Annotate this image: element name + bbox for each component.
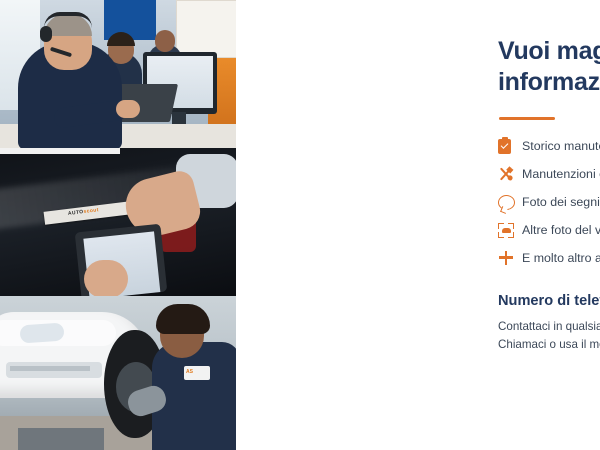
list-item: Storico manutentivo: [498, 132, 600, 160]
colleague-far-head: [155, 30, 175, 52]
feature-label: E molto altro ancora: [522, 251, 600, 265]
photo-mechanic-inspecting-wheel-on-lift: AS: [0, 296, 236, 450]
top-white-strip: [0, 148, 120, 154]
tools-icon: [498, 166, 522, 182]
contact-note: Contattaci in qualsiasi momento per ulte…: [498, 318, 600, 354]
uniform-logo-patch: AS: [184, 366, 210, 380]
list-item: Altre foto del veicolo: [498, 216, 600, 244]
feature-label: Foto dei segni di usura: [522, 195, 600, 209]
wall-board: [176, 0, 236, 58]
car-lift-arm: [18, 428, 104, 450]
list-item: Foto dei segni di usura: [498, 188, 600, 216]
inspector-hand-lower: [84, 260, 128, 296]
list-item: Manutenzioni effettuate: [498, 160, 600, 188]
feature-label: Altre foto del veicolo: [522, 223, 600, 237]
headset-band: [44, 12, 92, 28]
photo-frame-car-icon: [498, 223, 522, 238]
car-grille-slat: [10, 366, 90, 371]
content-panel: Vuoi maggiori informazioni su ? Storico …: [236, 0, 600, 450]
headset-earpiece: [40, 26, 52, 42]
car-headlight: [19, 322, 64, 343]
contact-note-line-2: Chiamaci o usa il modulo di contatto.: [498, 336, 600, 354]
clipboard-check-icon: [498, 139, 522, 154]
feature-label: Storico manutentivo: [522, 139, 600, 153]
photo-column: AUTOscout AS: [0, 0, 236, 450]
headline-line-2: informazioni su ?: [498, 67, 600, 98]
mechanic-hair: [156, 304, 210, 334]
phone-label: Numero di telefono:: [498, 293, 600, 309]
headline-line-1: Vuoi maggiori: [498, 36, 600, 67]
plus-icon: [498, 250, 522, 266]
title-divider: [499, 117, 555, 120]
feature-list: Storico manutentivo Manutenzioni effettu…: [498, 132, 600, 272]
phone-number-line[interactable]: Numero di telefono: +390238583852: [498, 293, 600, 309]
speech-bubble-icon: [498, 195, 522, 210]
photo-call-center-agents-with-headsets: [0, 0, 236, 148]
list-item: E molto altro ancora: [498, 244, 600, 272]
page-title: Vuoi maggiori informazioni su ?: [498, 36, 600, 97]
promo-banner: AUTOscout AS Vuoi maggiori inf: [0, 0, 600, 450]
agent-hand: [116, 100, 140, 118]
feature-label: Manutenzioni effettuate: [522, 167, 600, 181]
photo-vehicle-damage-inspection-with-ruler: AUTOscout: [0, 148, 236, 296]
ruler-brand-text: AUTOscout: [68, 207, 100, 217]
contact-note-line-1: Contattaci in qualsiasi momento per ulte…: [498, 318, 600, 336]
